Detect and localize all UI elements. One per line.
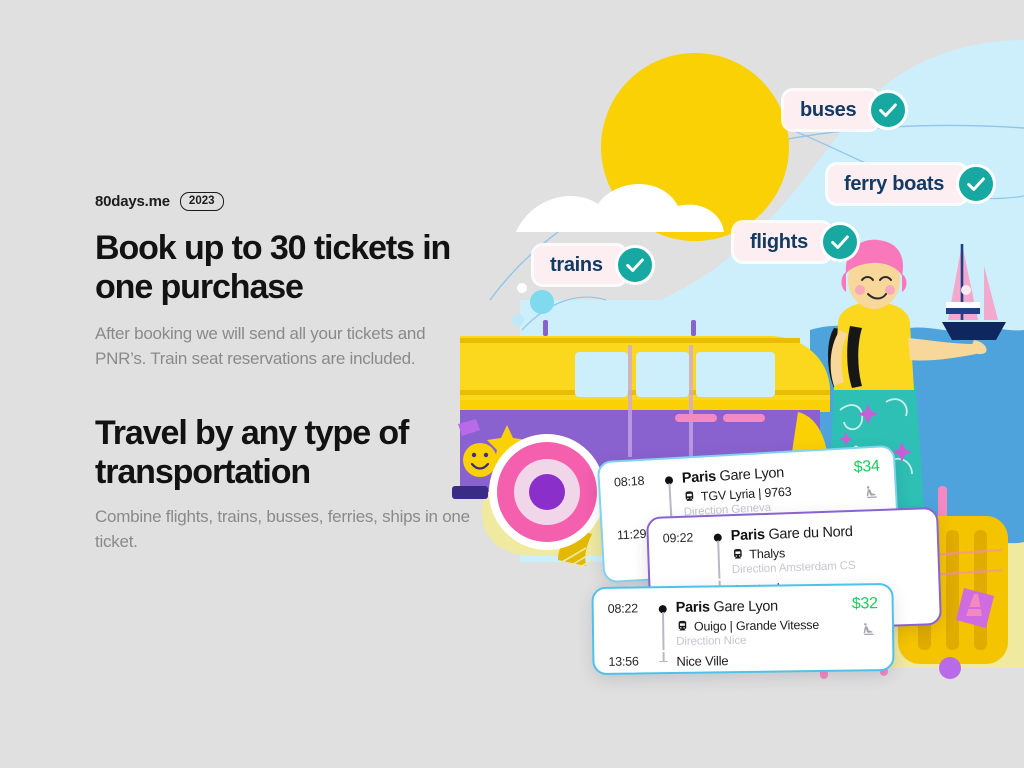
destination: Nice Ville: [672, 650, 878, 669]
ticket-depart-row: 08:22 Paris Gare Lyon Ouigo | Grande Vit…: [608, 597, 879, 648]
seat-icon: [864, 484, 880, 500]
ticket-direction: Direction Nice: [676, 633, 878, 648]
check-icon: [820, 222, 860, 262]
check-icon: [868, 90, 908, 130]
train-icon: [676, 620, 689, 633]
badge-label: trains: [534, 246, 625, 284]
feature-badge-flights[interactable]: flights: [734, 222, 860, 262]
service-name: Thalys: [749, 546, 785, 561]
arrive-time: 13:56: [608, 653, 654, 669]
section-title: Travel by any type of transportation: [95, 414, 475, 491]
badge-label: ferry boats: [828, 165, 966, 203]
rail-arrow: [654, 652, 672, 670]
year-badge: 2023: [180, 192, 224, 211]
origin-station: Gare Lyon: [719, 465, 784, 485]
check-icon: [615, 245, 655, 285]
page-title: Book up to 30 tickets in one purchase: [95, 229, 475, 306]
feature-block-1: Book up to 30 tickets in one purchase Af…: [95, 229, 475, 372]
service-name: Ouigo | Grande Vitesse: [694, 618, 819, 634]
ticket-arrive-row: 13:56 Nice Ville: [608, 649, 878, 671]
rail-line: [654, 600, 673, 648]
feature-block-2: Travel by any type of transportation Com…: [95, 414, 475, 555]
promo-slide: buses ferry boats flights trains $34 08:: [0, 0, 1024, 768]
train-icon: [731, 548, 744, 561]
origin-city: Paris: [730, 527, 765, 544]
train-icon: [683, 490, 697, 504]
section-subtitle: Combine flights, trains, busses, ferries…: [95, 505, 475, 555]
origin-city: Paris: [681, 469, 716, 487]
depart-time: 08:22: [608, 600, 654, 616]
rail-line: [708, 528, 728, 576]
feature-badge-trains[interactable]: trains: [534, 245, 655, 285]
brand-name: 80days.me: [95, 193, 170, 210]
depart-time: 08:18: [614, 472, 661, 490]
origin-station: Gare Lyon: [713, 599, 778, 616]
rail-line: [660, 471, 681, 520]
ticket-depart-row: 09:22 Paris Gare du Nord Thalys Directio…: [663, 521, 925, 578]
ticket-price: $34: [853, 458, 880, 477]
marketing-copy: 80days.me 2023 Book up to 30 tickets in …: [95, 192, 475, 555]
depart-time: 09:22: [663, 529, 709, 546]
origin-city: Paris: [676, 599, 710, 615]
feature-badge-ferry-boats[interactable]: ferry boats: [828, 164, 996, 204]
ticket-service: Ouigo | Grande Vitesse: [676, 617, 878, 634]
seat-icon: [861, 621, 876, 636]
badge-label: flights: [734, 223, 830, 261]
badge-label: buses: [784, 91, 878, 129]
origin-station: Gare du Nord: [768, 524, 853, 543]
check-icon: [956, 164, 996, 204]
ticket-price: $32: [852, 595, 878, 613]
page-subtitle: After booking we will send all your tick…: [95, 322, 475, 372]
brand-row: 80days.me 2023: [95, 192, 475, 211]
feature-badge-buses[interactable]: buses: [784, 90, 908, 130]
origin: Paris Gare Lyon: [676, 597, 878, 616]
ticket-card[interactable]: $32 08:22 Paris Gare Lyon Ouigo | Grande…: [591, 583, 894, 675]
